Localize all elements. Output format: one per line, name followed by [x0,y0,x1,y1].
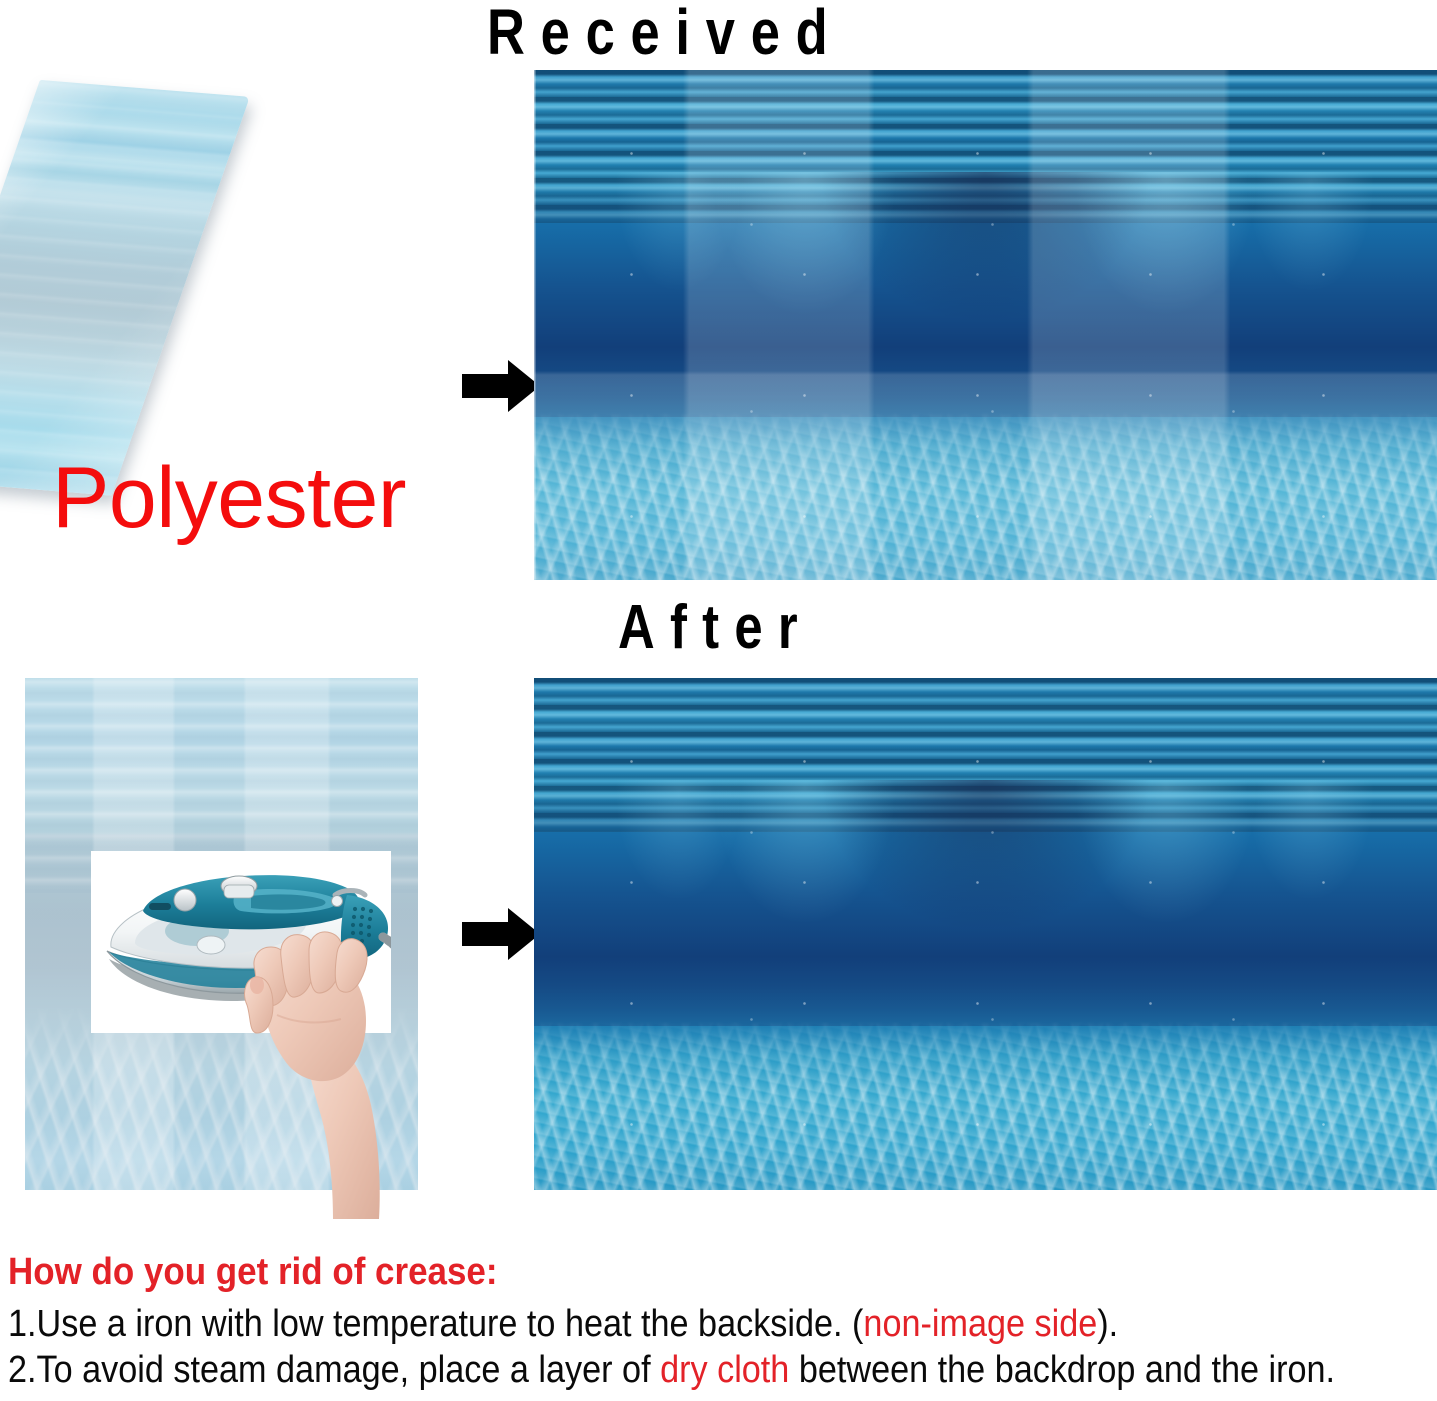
right-arrow-icon-2 [462,908,540,960]
iron-loop-anchor [332,896,343,907]
product-instruction-image: Received Polyester After [0,0,1437,1401]
instruction-2-suffix: between the backdrop and the iron. [789,1349,1335,1391]
received-backdrop-photo [534,70,1437,580]
finger-pinky [335,939,367,993]
instruction-line-2: 2.To avoid steam damage, place a layer o… [8,1347,1291,1393]
steam-iron-photo [91,851,391,1033]
instructions-block: How do you get rid of crease: 1.Use a ir… [8,1249,1433,1393]
iron-spray-button [174,889,196,911]
fabric-sheet-image [0,80,250,496]
hand-illustration [241,919,431,1219]
iron-dial-base [224,885,254,898]
right-arrow-icon [462,360,540,412]
iron-steam-button [197,936,225,954]
instruction-1-prefix: 1.Use a iron with low temperature to hea… [8,1303,863,1345]
instruction-1-highlight: non-image side [863,1303,1097,1345]
instructions-heading: How do you get rid of crease: [8,1249,1319,1295]
water-particles-2 [534,678,1437,1190]
iron-front-vent [149,903,171,910]
thumb-nail [250,976,264,994]
instruction-2-prefix: 2.To avoid steam damage, place a layer o… [8,1349,660,1391]
instruction-line-1: 1.Use a iron with low temperature to hea… [8,1301,1291,1347]
polyester-label: Polyester [52,452,406,544]
instruction-2-highlight: dry cloth [660,1349,789,1391]
instruction-1-suffix: ). [1097,1303,1118,1345]
after-backdrop-photo [534,678,1437,1190]
water-particles [534,70,1437,580]
after-heading: After [618,595,813,661]
received-heading: Received [487,0,843,66]
